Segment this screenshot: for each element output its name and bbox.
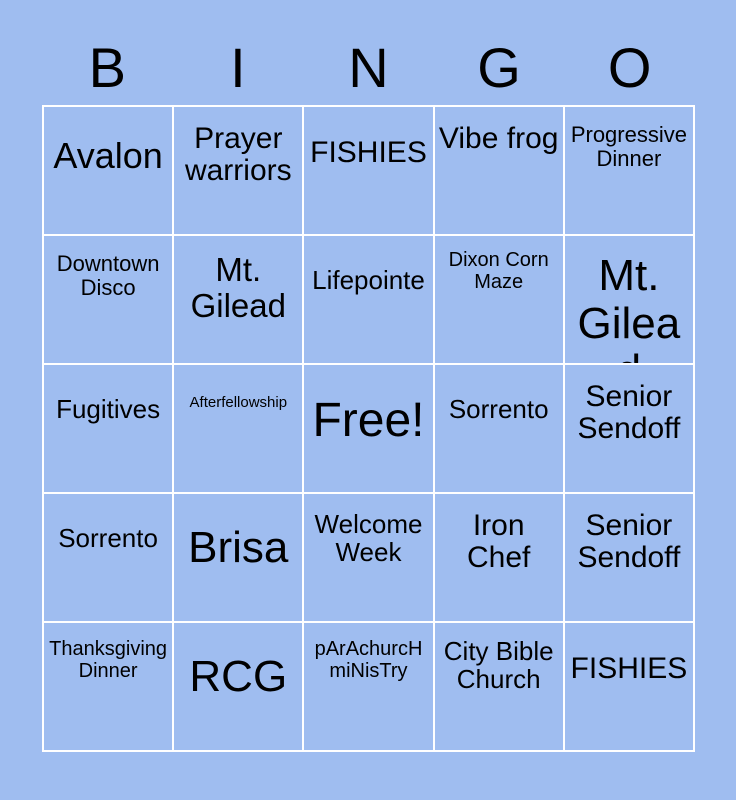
header-letter-o: O <box>564 34 695 102</box>
bingo-cell[interactable]: Avalon <box>44 107 172 234</box>
bingo-cell[interactable]: Lifepointe <box>304 236 432 363</box>
bingo-cell-label: Iron Chef <box>439 500 559 575</box>
bingo-cell[interactable]: RCG <box>174 623 302 750</box>
bingo-cell[interactable]: Sorrento <box>435 365 563 492</box>
bingo-cell-label: Afterfellowship <box>178 371 298 411</box>
bingo-cell[interactable]: Senior Sendoff <box>565 365 693 492</box>
bingo-cell[interactable]: Sorrento <box>44 494 172 621</box>
bingo-cell[interactable]: FISHIES <box>304 107 432 234</box>
bingo-cell-label: Senior Sendoff <box>569 371 689 446</box>
bingo-cell-label: Prayer warriors <box>178 113 298 188</box>
bingo-cell[interactable]: Fugitives <box>44 365 172 492</box>
bingo-cell-label: Progressive Dinner <box>569 113 689 171</box>
bingo-cell-label: Dixon Corn Maze <box>439 242 559 293</box>
bingo-cell[interactable]: Afterfellowship <box>174 365 302 492</box>
bingo-cell-label: Fugitives <box>48 371 168 423</box>
header-letter-n: N <box>303 34 434 102</box>
bingo-cell-label: Sorrento <box>48 500 168 552</box>
bingo-card: B I N G O AvalonPrayer warriorsFISHIESVi… <box>0 0 736 800</box>
header-letter-i: I <box>173 34 304 102</box>
header-letter-g: G <box>434 34 565 102</box>
bingo-cell[interactable]: Senior Sendoff <box>565 494 693 621</box>
bingo-cell-label: FISHIES <box>569 629 689 685</box>
bingo-cell-label: Avalon <box>48 113 168 176</box>
bingo-cell[interactable]: pArAchurcHmiNisTry <box>304 623 432 750</box>
bingo-cell-label: Senior Sendoff <box>569 500 689 575</box>
bingo-cell-label: Welcome Week <box>308 500 428 566</box>
bingo-cell[interactable]: Progressive Dinner <box>565 107 693 234</box>
bingo-cell[interactable]: Prayer warriors <box>174 107 302 234</box>
bingo-cell-label: Thanksgiving Dinner <box>48 629 168 682</box>
bingo-cell-label: Mt. Gilead <box>178 242 298 323</box>
bingo-cell-label: City Bible Church <box>439 629 559 693</box>
bingo-cell[interactable]: Dixon Corn Maze <box>435 236 563 363</box>
bingo-free-space[interactable]: Free! <box>304 365 432 492</box>
bingo-cell[interactable]: Mt. Gilead <box>174 236 302 363</box>
bingo-cell[interactable]: Welcome Week <box>304 494 432 621</box>
bingo-cell-label: pArAchurcHmiNisTry <box>308 629 428 682</box>
bingo-cell-label: Mt. Gilead <box>569 242 689 363</box>
bingo-cell-label: Sorrento <box>439 371 559 423</box>
bingo-cell[interactable]: Vibe frog <box>435 107 563 234</box>
bingo-cell-label: FISHIES <box>308 113 428 169</box>
bingo-cell[interactable]: Brisa <box>174 494 302 621</box>
bingo-cell-label: Vibe frog <box>439 113 559 155</box>
bingo-cell-label: Lifepointe <box>308 242 428 294</box>
bingo-cell[interactable]: FISHIES <box>565 623 693 750</box>
bingo-header: B I N G O <box>42 34 695 102</box>
bingo-cell[interactable]: Mt. Gilead <box>565 236 693 363</box>
bingo-grid: AvalonPrayer warriorsFISHIESVibe frogPro… <box>42 105 695 752</box>
bingo-cell[interactable]: Downtown Disco <box>44 236 172 363</box>
bingo-cell-label: RCG <box>178 629 298 701</box>
bingo-cell-label: Brisa <box>178 500 298 572</box>
bingo-cell[interactable]: City Bible Church <box>435 623 563 750</box>
bingo-cell-label: Downtown Disco <box>48 242 168 300</box>
bingo-cell-label: Free! <box>308 371 428 447</box>
bingo-cell[interactable]: Iron Chef <box>435 494 563 621</box>
header-letter-b: B <box>42 34 173 102</box>
bingo-cell[interactable]: Thanksgiving Dinner <box>44 623 172 750</box>
